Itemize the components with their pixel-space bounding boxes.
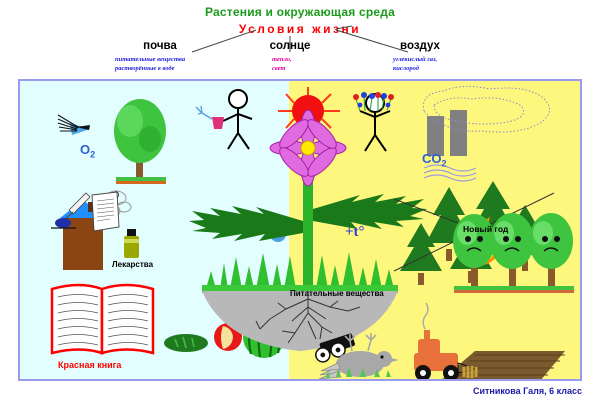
new-year-label: Новый год: [463, 224, 508, 234]
carbon-dioxide-label-sub: 2: [442, 159, 447, 169]
branch-label-soil: почва: [115, 40, 205, 52]
carbon-dioxide-label: CO2: [422, 151, 447, 169]
illustration-panel: O2 CO2 +t° Питательные вещества Новый го…: [18, 79, 582, 381]
branch-note-air: углекислый газ, кислород: [393, 56, 493, 74]
temperature-label: +t°: [345, 224, 365, 241]
branch-note-soil: питательные вещества растворённые в воде: [115, 56, 225, 74]
branch-note-sun: тепло, свет: [272, 56, 332, 74]
carbon-dioxide-label-text: CO: [422, 151, 442, 166]
nutrients-label: Питательные вещества: [290, 289, 384, 298]
header: Растения и окружающая среда Условия жизн…: [0, 0, 600, 80]
tractor-icon: [414, 303, 476, 379]
oxygen-label: O2: [80, 142, 95, 160]
oxygen-label-text: O: [80, 142, 90, 157]
oxygen-label-sub: 2: [90, 150, 95, 160]
author-signature: Ситникова Галя, 6 класс: [0, 386, 582, 396]
branch-label-sun: солнце: [245, 40, 335, 52]
red-book-label: Красная книга: [58, 360, 121, 370]
factory-icon: [427, 110, 467, 156]
branch-label-air: воздух: [375, 40, 465, 52]
medicines-label: Лекарства: [112, 260, 153, 269]
